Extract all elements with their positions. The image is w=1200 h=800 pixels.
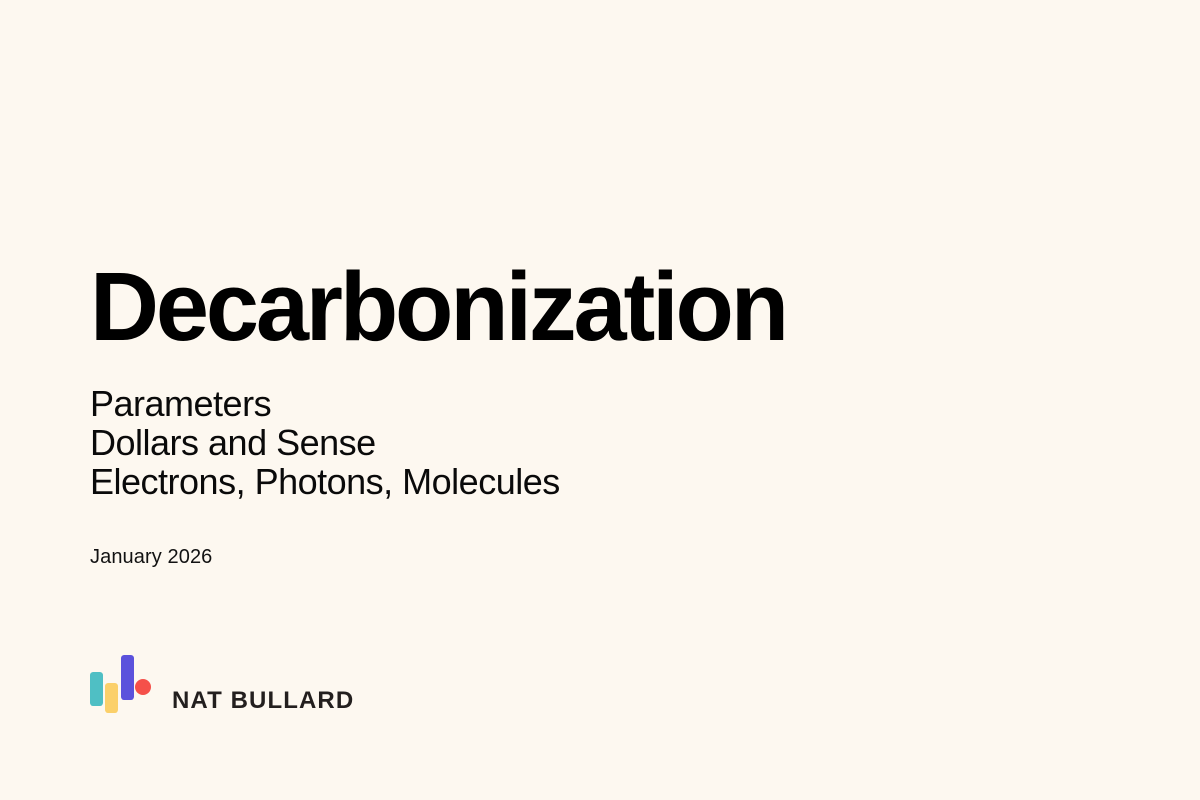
red-dot-icon <box>135 679 151 695</box>
publication-date: January 2026 <box>90 545 1110 569</box>
purple-bar-icon <box>121 655 134 700</box>
subtitle-line-1: Parameters <box>90 384 1110 423</box>
page-title: Decarbonization <box>90 258 1095 355</box>
title-content-block: Decarbonization Parameters Dollars and S… <box>90 258 1110 569</box>
title-slide: Decarbonization Parameters Dollars and S… <box>0 0 1200 800</box>
nat-bullard-bar-chart-logo-icon <box>88 650 152 716</box>
brand-logo-lockup: NAT BULLARD <box>88 650 354 716</box>
subtitle-block: Parameters Dollars and Sense Electrons, … <box>90 384 1110 501</box>
teal-bar-icon <box>90 672 103 706</box>
subtitle-line-2: Dollars and Sense <box>90 423 1110 462</box>
yellow-bar-icon <box>105 683 118 713</box>
brand-wordmark: NAT BULLARD <box>172 689 354 713</box>
subtitle-line-3: Electrons, Photons, Molecules <box>90 462 1110 501</box>
